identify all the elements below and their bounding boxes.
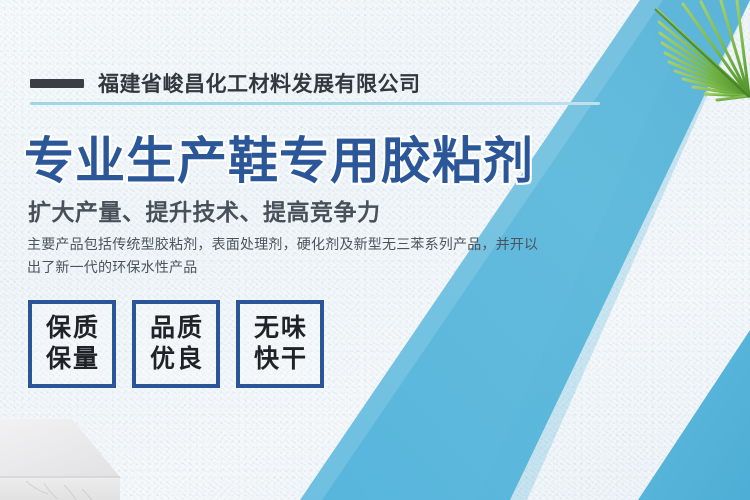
badge-line-2: 优良 — [148, 344, 204, 375]
badge-line-2: 快干 — [252, 344, 308, 375]
divider-rule — [30, 102, 600, 105]
feature-badge-quality-guarantee: 保质 保量 — [28, 300, 116, 388]
badge-line-2: 保量 — [44, 344, 100, 375]
description-paragraph: 主要产品包括传统型胶粘剂，表面处理剂，硬化剂及新型无三苯系列产品，并开以 出了新… — [27, 233, 527, 279]
description-line-1: 主要产品包括传统型胶粘剂，表面处理剂，硬化剂及新型无三苯系列产品，并开以 — [27, 233, 527, 256]
promo-banner: 福建省峻昌化工材料发展有限公司 专业生产鞋专用胶粘剂 扩大产量、提升技术、提高竞… — [0, 0, 750, 500]
feature-badge-group: 保质 保量 品质 优良 无味 快干 — [28, 300, 324, 388]
company-name: 福建省峻昌化工材料发展有限公司 — [98, 68, 421, 98]
feature-badge-excellent-quality: 品质 优良 — [132, 300, 220, 388]
feature-badge-odorless-fastdry: 无味 快干 — [236, 300, 324, 388]
badge-line-1: 保质 — [44, 313, 100, 344]
company-name-row: 福建省峻昌化工材料发展有限公司 — [30, 68, 421, 98]
headline: 专业生产鞋专用胶粘剂 — [24, 121, 534, 193]
badge-line-1: 无味 — [252, 313, 308, 344]
dash-accent-icon — [30, 79, 84, 88]
description-line-2: 出了新一代的环保水性产品 — [27, 256, 527, 279]
badge-line-1: 品质 — [148, 313, 204, 344]
subtitle: 扩大产量、提升技术、提高竞争力 — [28, 193, 381, 227]
